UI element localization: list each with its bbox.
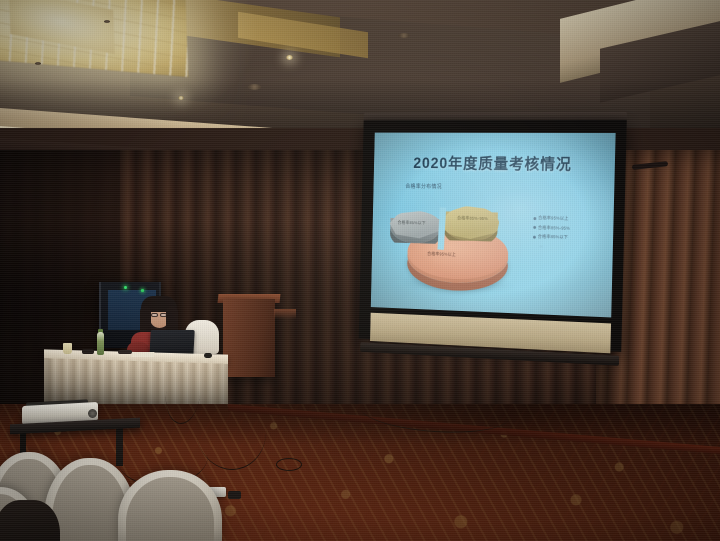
water-bottle bbox=[97, 332, 104, 355]
legend-marker-icon bbox=[533, 217, 536, 220]
projector-lens-icon bbox=[88, 409, 97, 418]
slide-surface: 2020年度质量考核情况 合格率分布情况 合格率95%以上 合格率85%-95%… bbox=[371, 133, 616, 318]
legend-marker-icon bbox=[533, 226, 536, 229]
power-led-icon bbox=[141, 289, 144, 292]
paper-sheet bbox=[132, 352, 155, 357]
legend-item: 合格率85%以下 bbox=[533, 234, 570, 241]
legend-item: 合格率95%以上 bbox=[533, 215, 570, 222]
pie-label-grey: 合格率85%以下 bbox=[397, 220, 425, 226]
slide-title: 2020年度质量考核情况 bbox=[374, 151, 615, 174]
projection-screen: 2020年度质量考核情况 合格率分布情况 合格率95%以上 合格率85%-95%… bbox=[359, 112, 627, 360]
chart-legend: 合格率95%以上 合格率85%-95% 合格率85%以下 … bbox=[533, 215, 571, 248]
podium bbox=[223, 299, 275, 377]
projector-stand-leg bbox=[116, 424, 123, 466]
legend-note: … bbox=[539, 243, 569, 248]
cable-coil bbox=[276, 458, 302, 471]
chair-back-inner bbox=[126, 477, 214, 541]
legend-marker-icon bbox=[533, 235, 536, 238]
podium-side bbox=[274, 309, 296, 319]
legend-label: 合格率85%-95% bbox=[538, 225, 570, 232]
legend-label: 合格率95%以上 bbox=[538, 215, 568, 222]
desk-object bbox=[82, 349, 94, 354]
conference-room-photo: 2020年度质量考核情况 合格率分布情况 合格率95%以上 合格率85%-95%… bbox=[0, 0, 720, 541]
pie-label-olive: 合格率85%-95% bbox=[457, 216, 488, 222]
power-led-icon bbox=[124, 286, 127, 289]
legend-item: 合格率85%-95% bbox=[533, 224, 570, 231]
presenter-glasses-icon bbox=[151, 313, 158, 317]
legend-label: 合格率85%以下 bbox=[538, 234, 568, 241]
desk-object bbox=[118, 350, 132, 354]
pie-chart: 合格率95%以上 合格率85%-95% 合格率85%以下 bbox=[383, 191, 522, 301]
slide-subtitle: 合格率分布情况 bbox=[405, 182, 442, 190]
computer-mouse bbox=[204, 353, 212, 358]
chair-back-inner bbox=[52, 465, 128, 541]
pie-label-main: 合格率95%以上 bbox=[427, 251, 456, 258]
paper-cup bbox=[63, 343, 72, 354]
power-adapter-plug bbox=[228, 491, 241, 499]
